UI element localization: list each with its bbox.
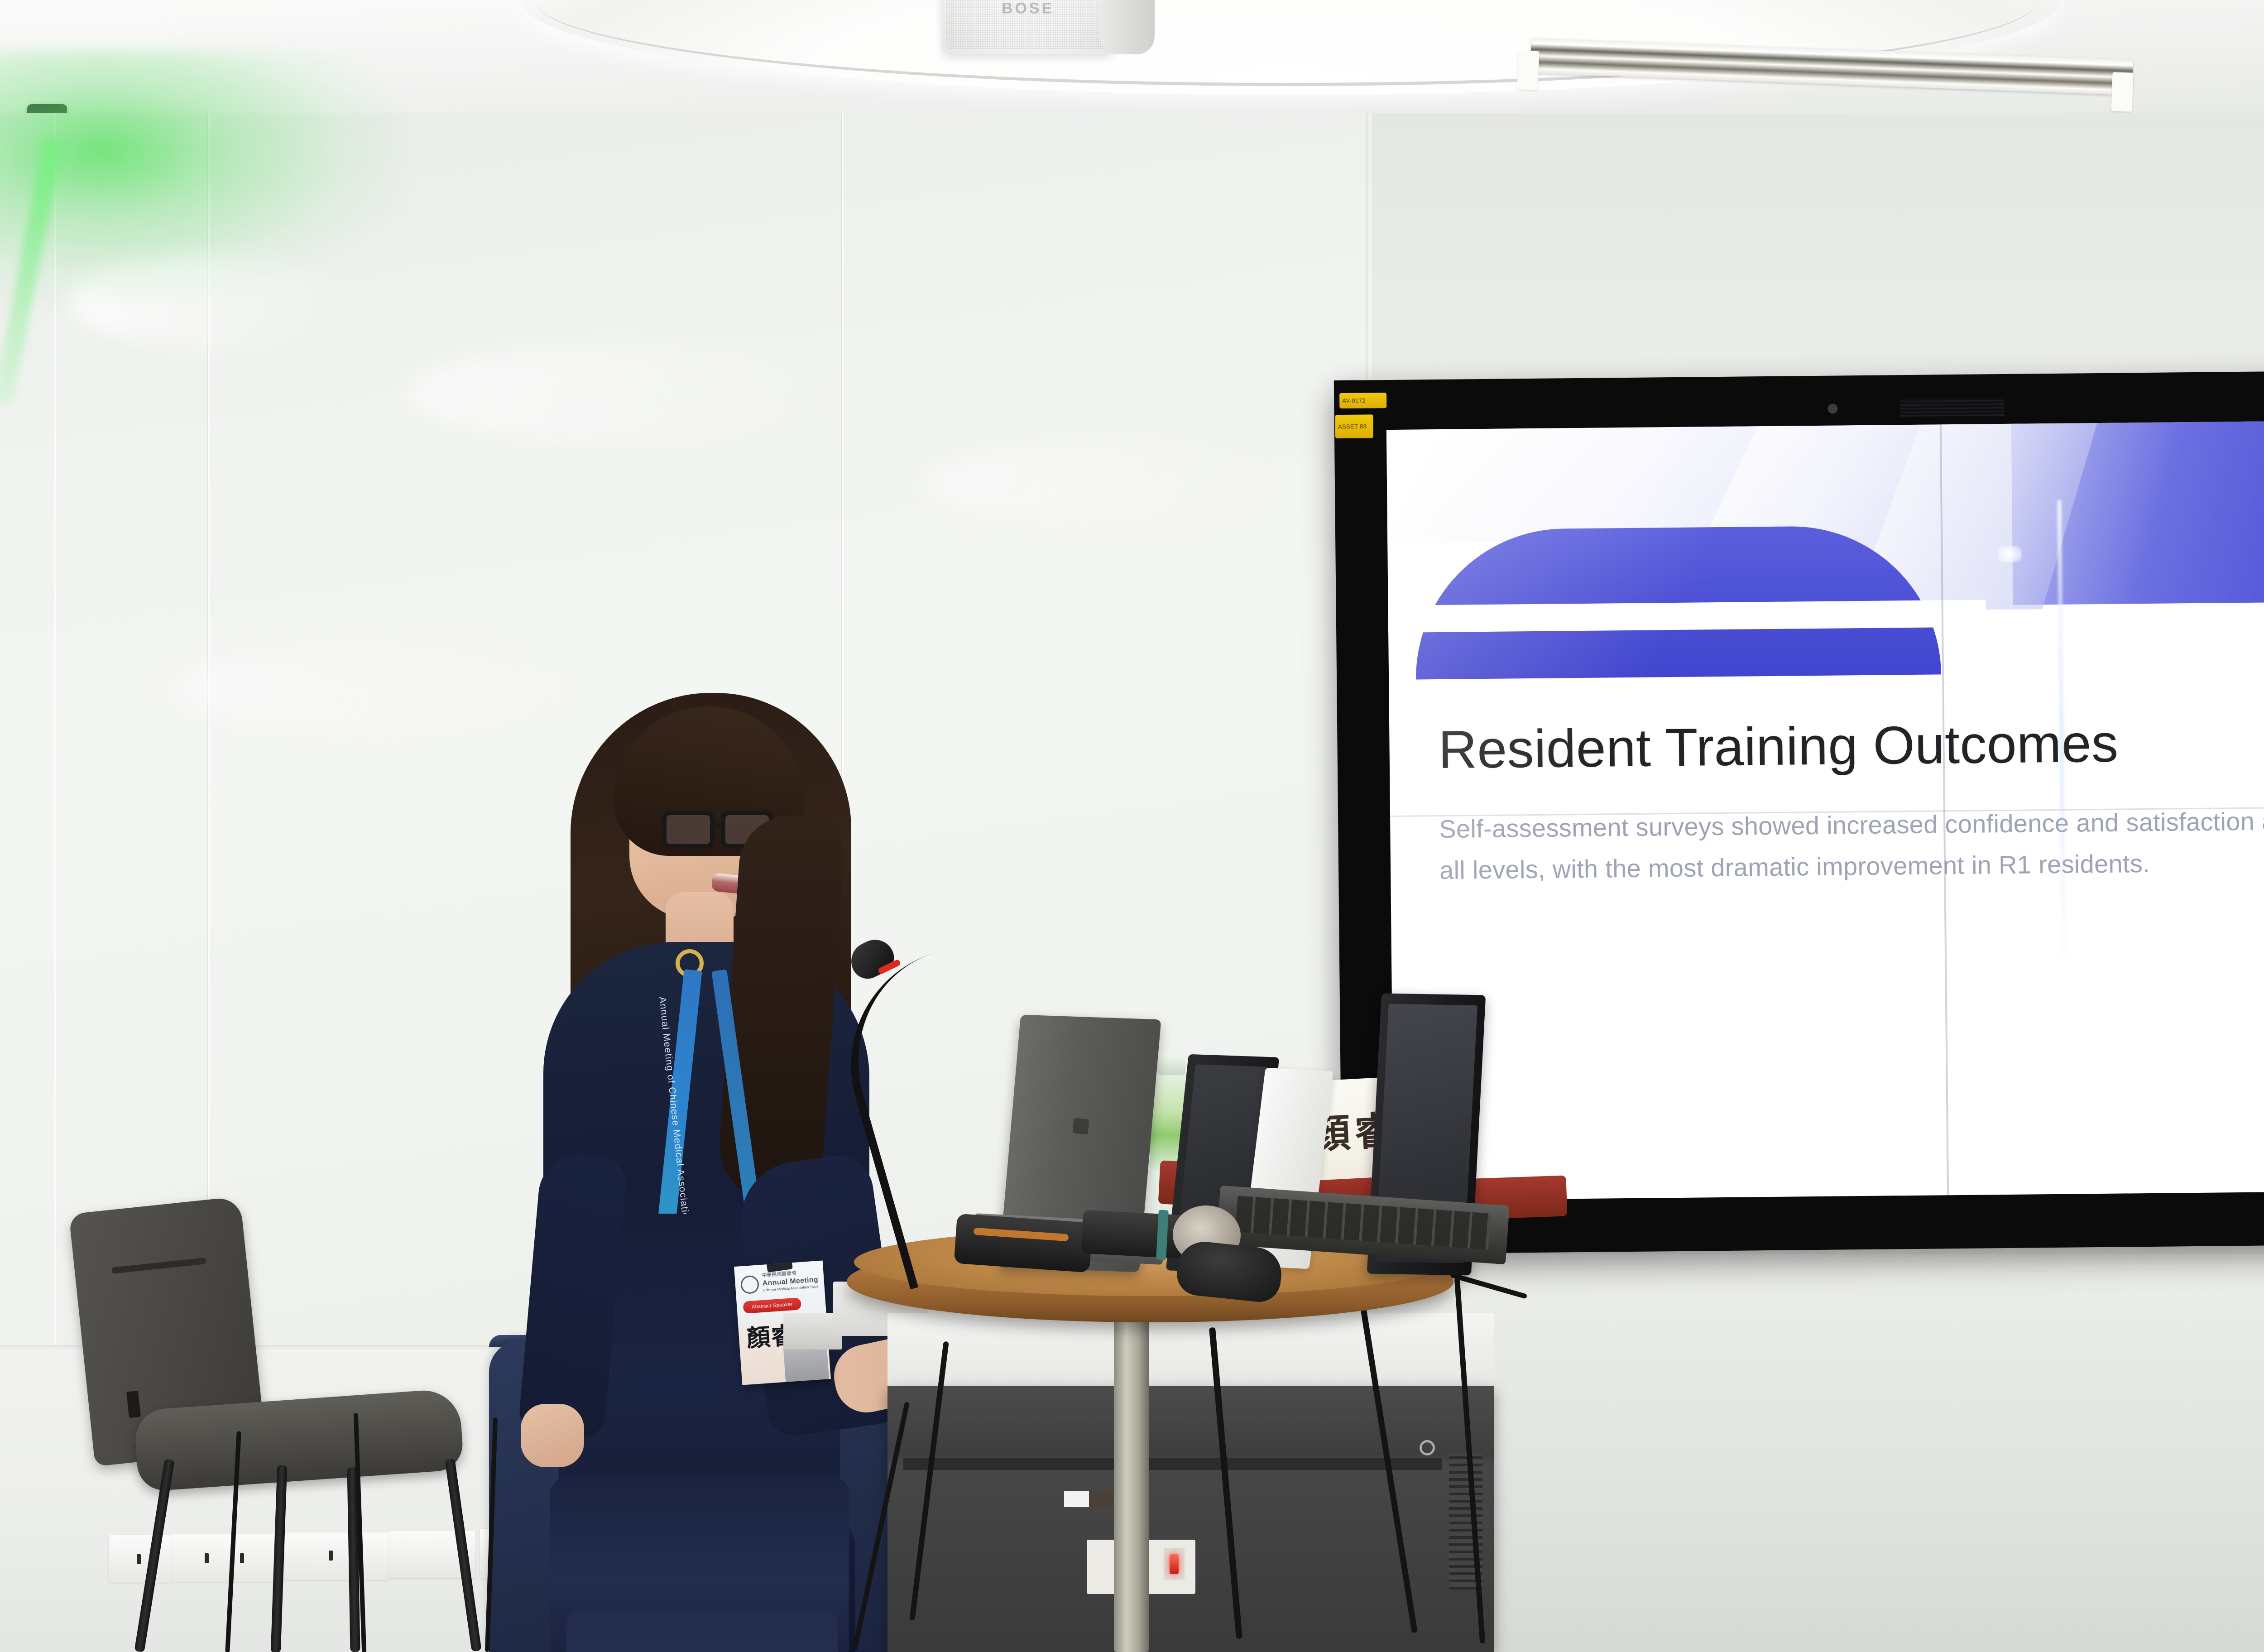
cart-top-panel xyxy=(887,1313,1494,1390)
slide-arc-mask xyxy=(1388,600,1986,633)
glass-reflection xyxy=(928,444,1272,525)
eyeglass-lens xyxy=(662,811,715,849)
glass-reflection xyxy=(408,344,860,444)
stool-leg xyxy=(271,1465,287,1652)
bezel-vent xyxy=(1900,398,2004,417)
presenter: Annual Meeting of Chinese Medical Associ… xyxy=(516,679,924,1652)
slide-body-text: Self-assessment surveys showed increased… xyxy=(1439,799,2264,891)
skirt xyxy=(566,1612,838,1652)
air-diffuser-end-cap xyxy=(1517,50,1539,90)
presentation-photo-scene: BOSE AV-0172 ASSET 88 xyxy=(0,0,2264,1652)
cart-cable-grommet-icon xyxy=(1420,1440,1435,1455)
power-indicator-icon xyxy=(1170,1554,1179,1574)
slide-title: Resident Training Outcomes xyxy=(1438,713,2119,781)
asset-sticker: AV-0172 xyxy=(1339,393,1386,408)
badge-header: 中華民國醫學會 Annual Meeting Chinese Medical A… xyxy=(762,1269,822,1293)
right-wall-lower xyxy=(1372,1254,2264,1652)
cart-label xyxy=(1064,1491,1118,1507)
slide-header-wedge xyxy=(1386,426,1757,543)
badge-role-ribbon: Abstract Speaker xyxy=(743,1297,802,1314)
slide-body-line: Self-assessment surveys showed increased… xyxy=(1439,799,2264,850)
cart-shelf xyxy=(903,1458,1442,1470)
hand-left xyxy=(521,1404,584,1467)
bose-ceiling-speaker: BOSE xyxy=(942,0,1114,54)
speaker-mount xyxy=(1100,0,1155,54)
av-equipment-cart xyxy=(887,1386,1494,1652)
slide-canvas: Resident Training Outcomes Self-assessme… xyxy=(1386,419,2264,1201)
microphone-base[interactable] xyxy=(954,1214,1093,1273)
speaker-brand-label: BOSE xyxy=(1002,0,1054,18)
green-light-glow xyxy=(0,50,403,303)
eyeglass-bridge xyxy=(713,823,724,828)
asset-sticker-label: ASSET 88 xyxy=(1338,423,1367,430)
stool-leg xyxy=(445,1459,481,1652)
bottle-cap xyxy=(1157,1055,1185,1075)
camera-icon xyxy=(1828,404,1837,414)
asset-sticker-label: AV-0172 xyxy=(1342,397,1366,404)
podium-column xyxy=(1114,1304,1149,1652)
bar-stool[interactable] xyxy=(68,1205,494,1652)
asset-sticker: ASSET 88 xyxy=(1335,414,1373,438)
air-diffuser-end-cap xyxy=(2111,72,2133,112)
screen-glare-dot xyxy=(1998,546,2021,562)
association-logo-icon xyxy=(740,1275,760,1294)
